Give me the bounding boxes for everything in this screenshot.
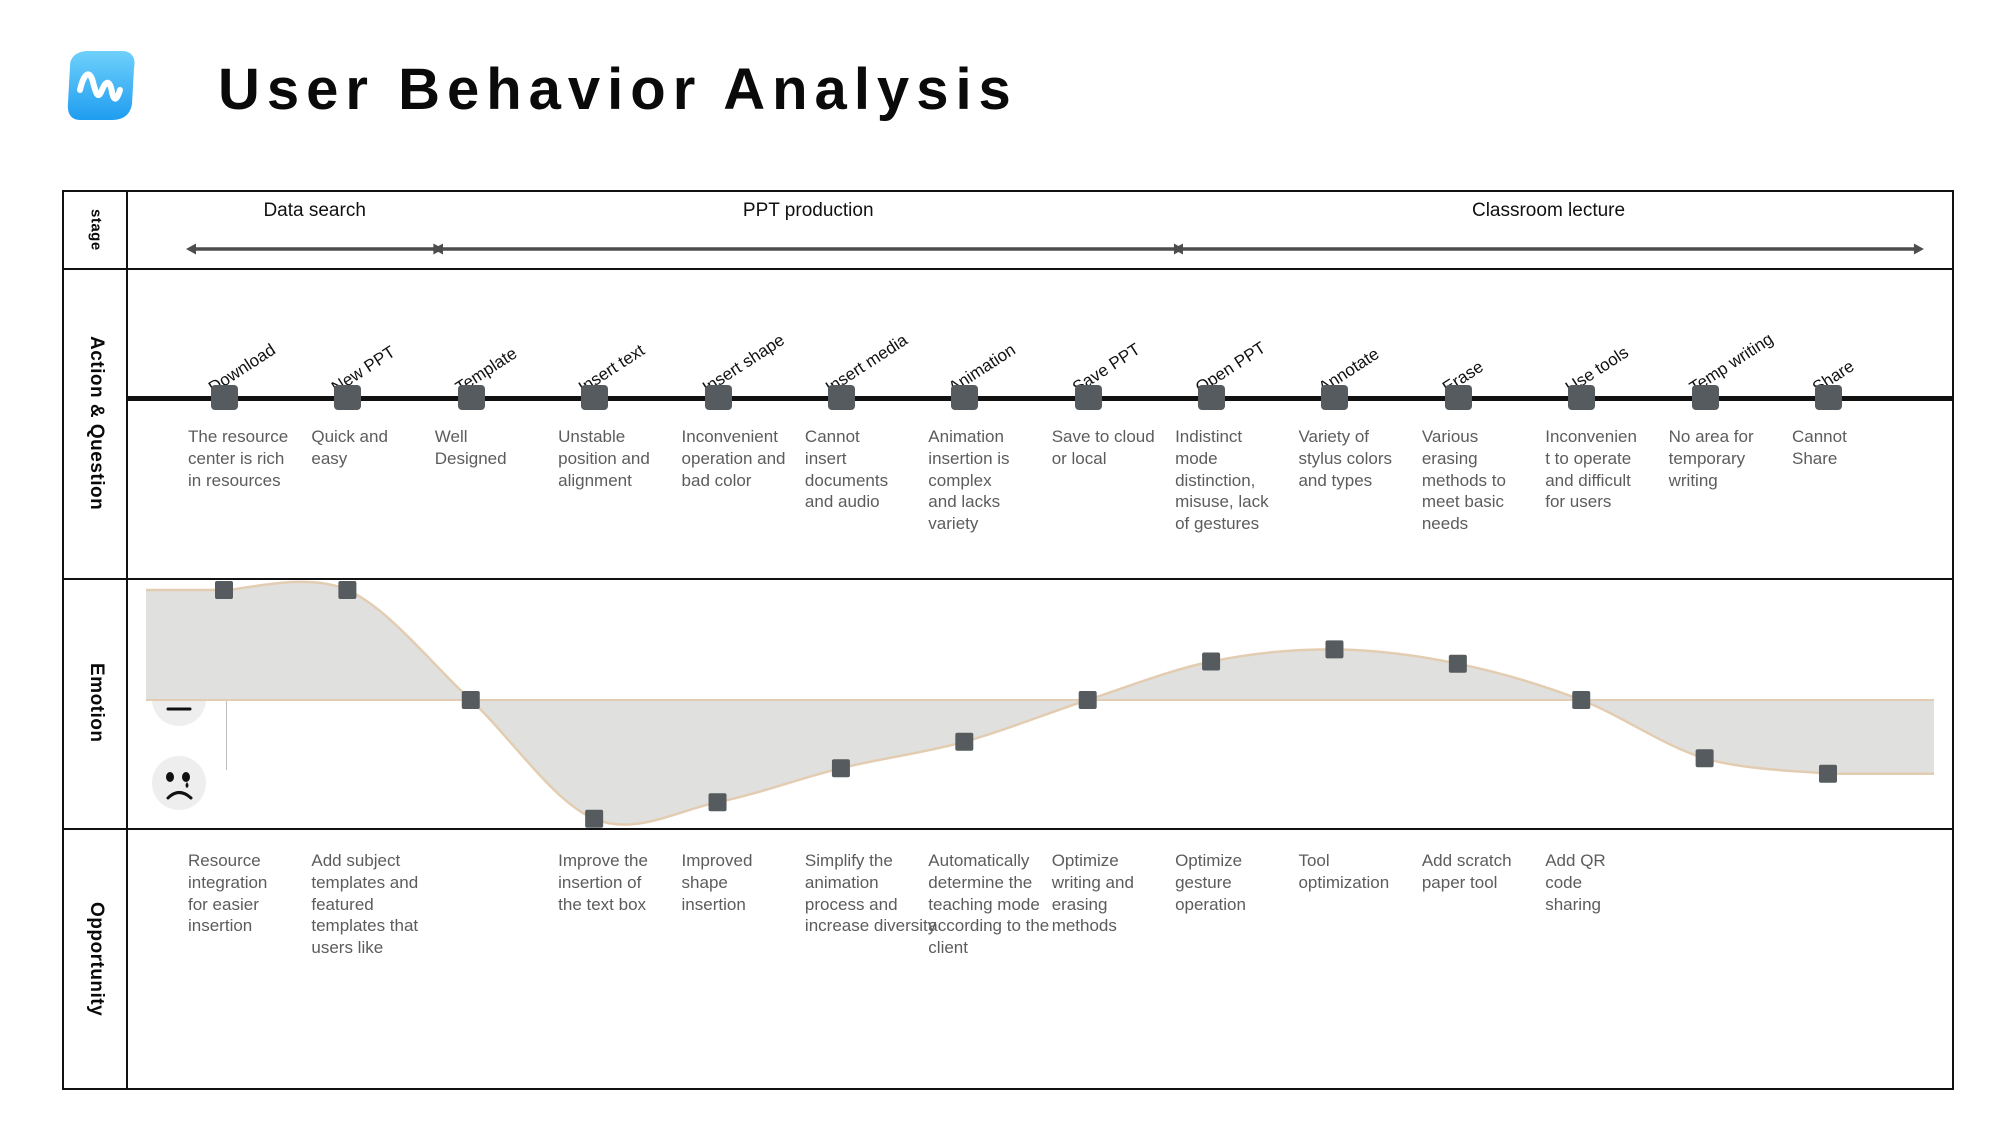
question-text: Various erasing methods to meet basic ne… bbox=[1422, 426, 1541, 535]
journey-map-board: stage Action & Question Emotion Opportun… bbox=[62, 190, 1954, 1090]
emotion-point-marker[interactable] bbox=[462, 691, 480, 709]
opportunity-text: Improved shape insertion bbox=[682, 850, 815, 915]
question-text: Variety of stylus colors and types bbox=[1298, 426, 1417, 491]
stage-segment: Classroom lecture bbox=[1173, 192, 1924, 268]
action-node[interactable] bbox=[828, 385, 855, 410]
opportunity-text: Optimize writing and erasing methods bbox=[1052, 850, 1185, 937]
question-text: No area for temporary writing bbox=[1669, 426, 1788, 491]
stage-range-arrow bbox=[1173, 242, 1924, 256]
emotion-point-marker[interactable] bbox=[709, 793, 727, 811]
opportunity-text: Optimize gesture operation bbox=[1175, 850, 1308, 915]
page-title: User Behavior Analysis bbox=[218, 56, 1018, 123]
action-node[interactable] bbox=[211, 385, 238, 410]
action-node[interactable] bbox=[1198, 385, 1225, 410]
page-header: User Behavior Analysis bbox=[0, 0, 2014, 160]
emotion-area-right-pad bbox=[1828, 700, 1934, 774]
question-text: Cannot Share bbox=[1792, 426, 1911, 470]
opportunity-text: Automatically determine the teaching mod… bbox=[928, 850, 1061, 959]
opportunity-text: Resource integration for easier insertio… bbox=[188, 850, 321, 937]
row-label-action-question: Action & Question bbox=[64, 268, 128, 578]
action-node[interactable] bbox=[705, 385, 732, 410]
emotion-row bbox=[128, 578, 1952, 828]
question-text: Inconvenien t to operate and difficult f… bbox=[1545, 426, 1664, 513]
action-node[interactable] bbox=[458, 385, 485, 410]
action-node[interactable] bbox=[581, 385, 608, 410]
question-text: Cannot insert documents and audio bbox=[805, 426, 924, 513]
action-node[interactable] bbox=[1075, 385, 1102, 410]
opportunity-text: Add subject templates and featured templ… bbox=[311, 850, 444, 959]
opportunity-text: Improve the insertion of the text box bbox=[558, 850, 691, 915]
question-text: The resource center is rich in resources bbox=[188, 426, 307, 491]
question-text: Well Designed bbox=[435, 426, 554, 470]
row-label-column: stage Action & Question Emotion Opportun… bbox=[64, 192, 128, 1088]
stage-range-arrow bbox=[433, 242, 1184, 256]
action-node[interactable] bbox=[1815, 385, 1842, 410]
stage-row: Data searchPPT productionClassroom lectu… bbox=[128, 192, 1952, 268]
emotion-point-marker[interactable] bbox=[1696, 749, 1714, 767]
action-node[interactable] bbox=[1568, 385, 1595, 410]
action-node[interactable] bbox=[951, 385, 978, 410]
question-text: Inconvenient operation and bad color bbox=[682, 426, 801, 491]
emotion-point-marker[interactable] bbox=[955, 733, 973, 751]
action-question-row: DownloadThe resource center is rich in r… bbox=[128, 268, 1952, 578]
question-text: Quick and easy bbox=[311, 426, 430, 470]
emotion-point-marker[interactable] bbox=[1202, 653, 1220, 671]
emotion-point-marker[interactable] bbox=[1449, 655, 1467, 673]
emotion-area-left-pad bbox=[146, 590, 224, 700]
emotion-point-marker[interactable] bbox=[832, 759, 850, 777]
stage-label: PPT production bbox=[433, 200, 1184, 222]
action-node[interactable] bbox=[334, 385, 361, 410]
row-label-stage: stage bbox=[64, 192, 128, 268]
opportunity-text: Add scratch paper tool bbox=[1422, 850, 1555, 894]
action-node[interactable] bbox=[1321, 385, 1348, 410]
emotion-curve bbox=[128, 578, 1952, 828]
stage-label: Classroom lecture bbox=[1173, 200, 1924, 222]
stage-label: Data search bbox=[186, 200, 443, 222]
emotion-point-marker[interactable] bbox=[1325, 640, 1343, 658]
row-label-emotion: Emotion bbox=[64, 578, 128, 828]
squiggle-wave-logo-icon bbox=[62, 46, 140, 124]
opportunity-text: Simplify the animation process and incre… bbox=[805, 850, 938, 937]
emotion-point-marker[interactable] bbox=[585, 810, 603, 828]
question-text: Indistinct mode distinction, misuse, lac… bbox=[1175, 426, 1294, 535]
stage-segment: PPT production bbox=[433, 192, 1184, 268]
emotion-point-marker[interactable] bbox=[1572, 691, 1590, 709]
opportunity-text: Add QR code sharing bbox=[1545, 850, 1678, 915]
question-text: Animation insertion is complex and lacks… bbox=[928, 426, 1047, 535]
action-node[interactable] bbox=[1692, 385, 1719, 410]
action-axis-line bbox=[128, 396, 1952, 401]
opportunity-row: Resource integration for easier insertio… bbox=[128, 828, 1952, 1090]
emotion-point-marker[interactable] bbox=[215, 581, 233, 599]
emotion-point-marker[interactable] bbox=[1819, 765, 1837, 783]
emotion-point-marker[interactable] bbox=[338, 581, 356, 599]
question-text: Unstable position and alignment bbox=[558, 426, 677, 491]
action-node[interactable] bbox=[1445, 385, 1472, 410]
emotion-point-marker[interactable] bbox=[1079, 691, 1097, 709]
question-text: Save to cloud or local bbox=[1052, 426, 1171, 470]
row-label-opportunity: Opportunity bbox=[64, 828, 128, 1090]
stage-range-arrow bbox=[186, 242, 443, 256]
opportunity-text: Tool optimization bbox=[1298, 850, 1431, 894]
stage-segment: Data search bbox=[186, 192, 443, 268]
